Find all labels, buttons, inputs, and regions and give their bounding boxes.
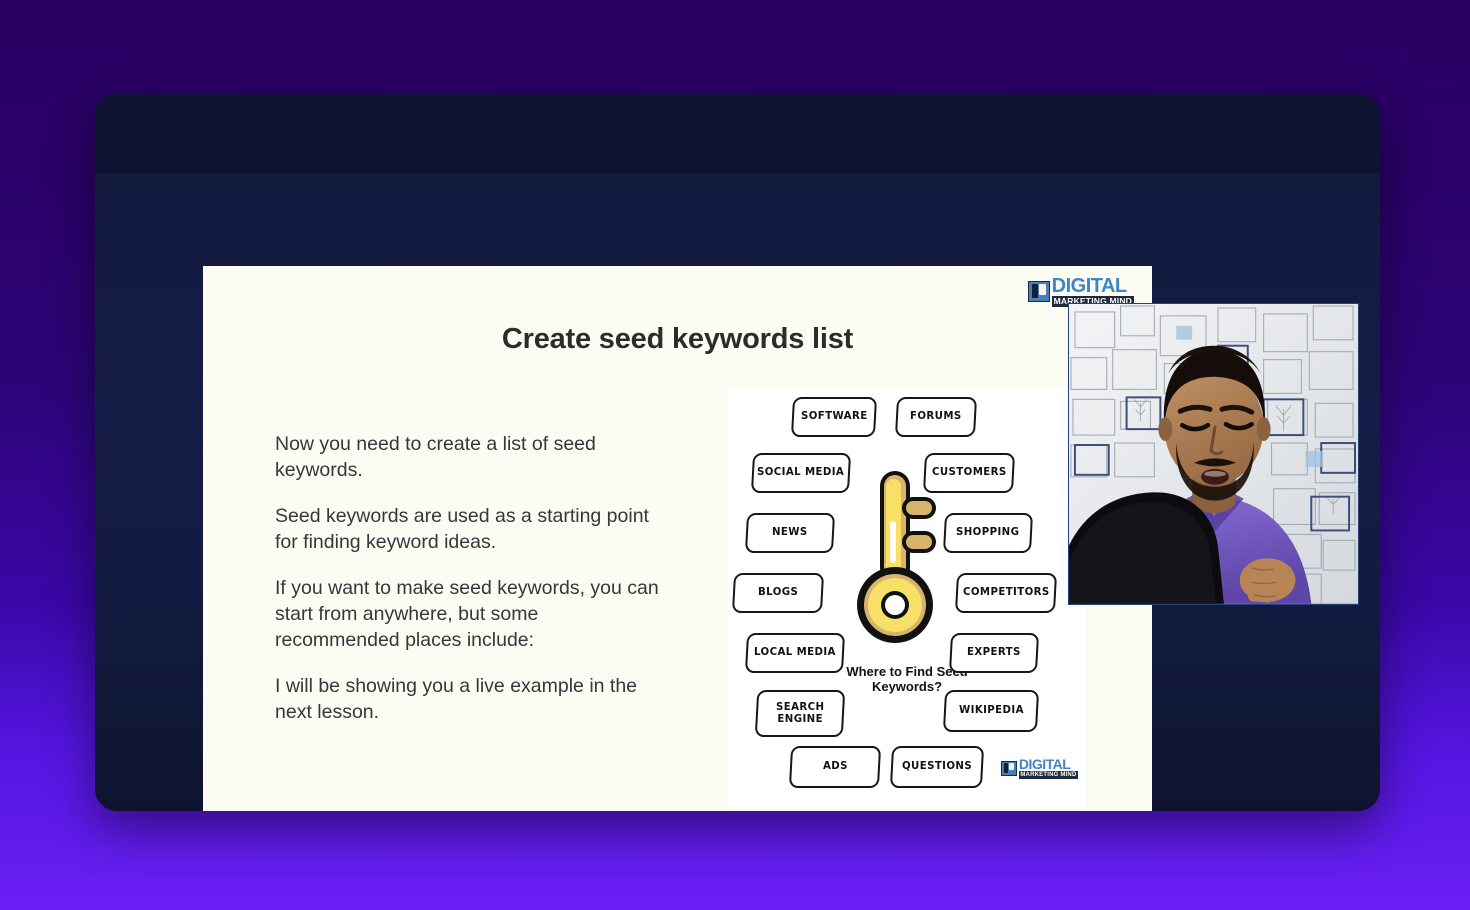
brand-mark-icon (1028, 281, 1050, 302)
presentation-slide: DIGITAL MARKETING MIND Create seed keywo… (203, 266, 1152, 811)
diagram-node[interactable]: SOCIAL MEDIA (751, 453, 851, 493)
brand-wordmark: DIGITAL MARKETING MIND (1019, 757, 1078, 779)
body-paragraph: Seed keywords are used as a starting poi… (275, 503, 665, 555)
body-paragraph: I will be showing you a live example in … (275, 673, 665, 725)
brand-name-primary: DIGITAL (1052, 276, 1134, 296)
brand-name-primary: DIGITAL (1019, 757, 1078, 771)
presenter-video-image (1069, 304, 1358, 604)
screen-background: DIGITAL MARKETING MIND Create seed keywo… (0, 0, 1470, 910)
digital-marketing-mind-logo: DIGITAL MARKETING MIND (1028, 276, 1134, 307)
diagram-node[interactable]: SHOPPING (943, 513, 1033, 553)
seed-keyword-sources-diagram: Where to Find Seed Keywords? SOFTWARE FO… (728, 387, 1086, 809)
presenter-webcam-feed (1068, 303, 1359, 605)
brand-wordmark: DIGITAL MARKETING MIND (1052, 276, 1134, 307)
diagram-node[interactable]: CUSTOMERS (923, 453, 1015, 493)
body-paragraph: If you want to make seed keywords, you c… (275, 575, 665, 653)
diagram-node[interactable]: EXPERTS (949, 633, 1039, 673)
brand-mark-icon (1001, 761, 1017, 776)
player-header-bar (95, 93, 1380, 173)
diagram-node[interactable]: FORUMS (895, 397, 977, 437)
body-paragraph: Now you need to create a list of seed ke… (275, 431, 665, 483)
diagram-node[interactable]: BLOGS (732, 573, 824, 613)
key-icon (850, 467, 964, 647)
diagram-node[interactable]: SEARCH ENGINE (755, 690, 845, 737)
brand-name-secondary: MARKETING MIND (1019, 771, 1078, 779)
diagram-node[interactable]: ADS (789, 746, 881, 788)
diagram-node[interactable]: QUESTIONS (890, 746, 984, 788)
video-player-window: DIGITAL MARKETING MIND Create seed keywo… (95, 93, 1380, 811)
digital-marketing-mind-logo-small: DIGITAL MARKETING MIND (1001, 757, 1078, 779)
diagram-node[interactable]: SOFTWARE (791, 397, 877, 437)
diagram-node[interactable]: LOCAL MEDIA (745, 633, 845, 673)
diagram-node[interactable]: WIKIPEDIA (943, 690, 1039, 732)
slide-title: Create seed keywords list (203, 323, 1152, 356)
slide-body-text: Now you need to create a list of seed ke… (275, 431, 665, 725)
diagram-node[interactable]: COMPETITORS (955, 573, 1057, 613)
diagram-node[interactable]: NEWS (745, 513, 835, 553)
